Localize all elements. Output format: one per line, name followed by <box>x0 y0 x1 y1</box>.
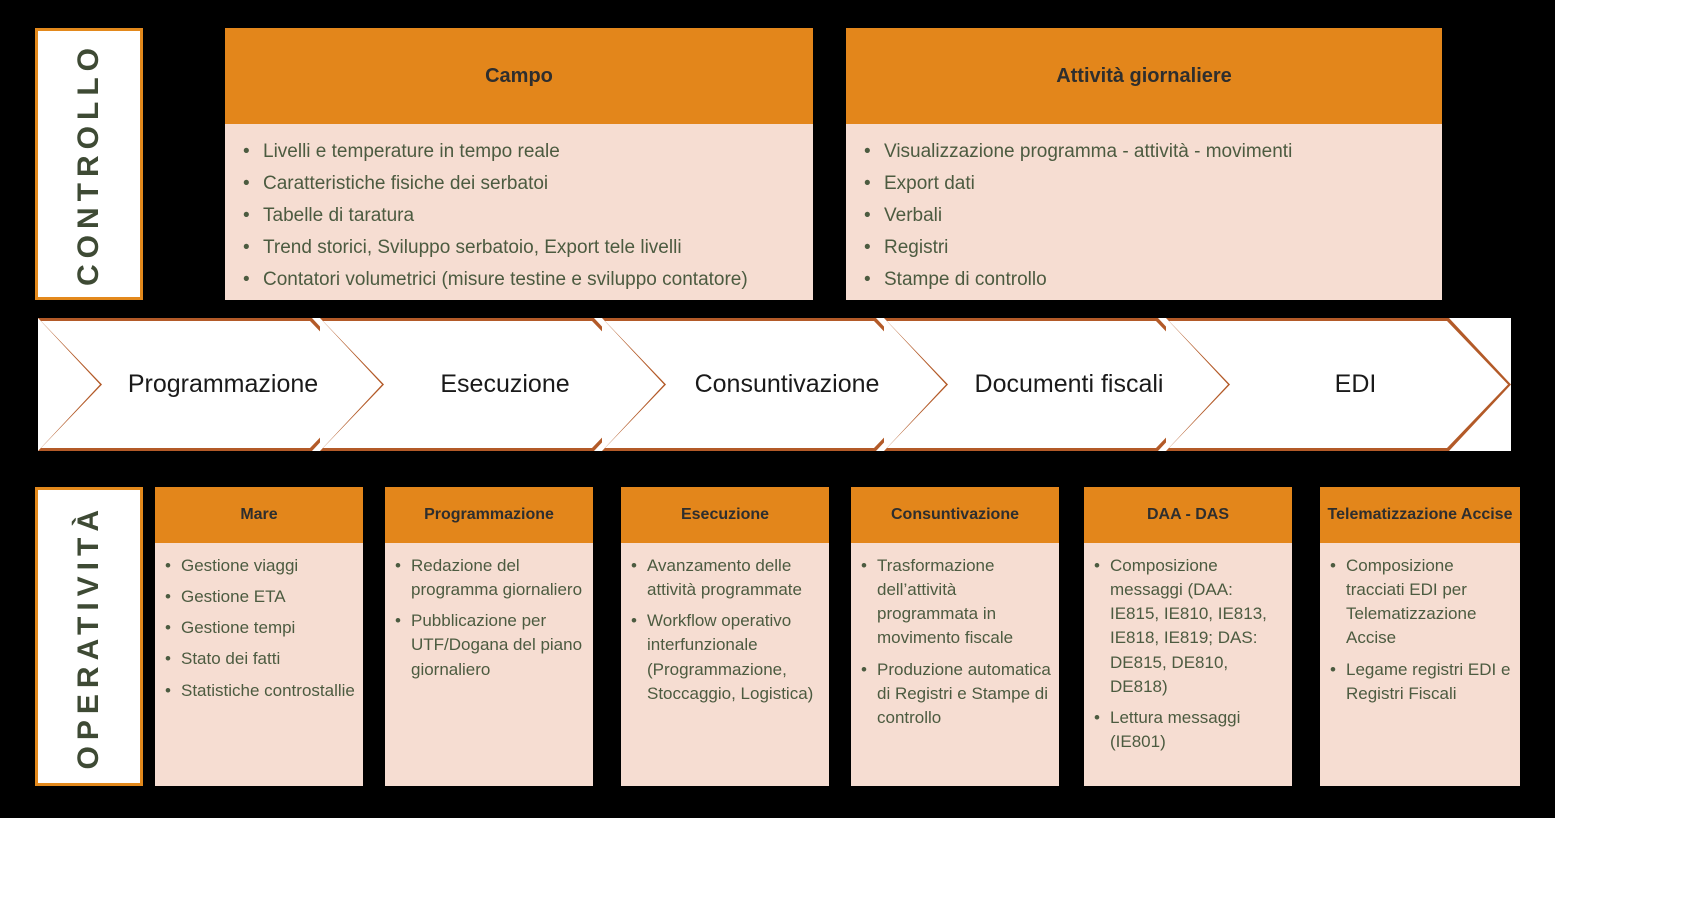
list-item: Stato dei fatti <box>165 647 355 671</box>
card-telematizzazione-accise-body: Composizione tracciati EDI per Telematiz… <box>1320 543 1520 786</box>
list-item: Redazione del programma giornaliero <box>395 554 585 602</box>
process-flow: Programmazione Esecuzione Consuntivazion… <box>0 318 1555 466</box>
process-step-label: Documenti fiscali <box>941 370 1164 399</box>
card-mare-title: Mare <box>155 487 363 543</box>
list-item: Stampe di controllo <box>864 266 1426 295</box>
list-item: Livelli e temperature in tempo reale <box>243 138 797 167</box>
list-item: Composizione messaggi (DAA: IE815, IE810… <box>1094 554 1284 699</box>
card-daa-das-body: Composizione messaggi (DAA: IE815, IE810… <box>1084 543 1292 786</box>
list-item: Tabelle di taratura <box>243 202 797 231</box>
card-mare-body: Gestione viaggi Gestione ETA Gestione te… <box>155 543 363 786</box>
card-programmazione-body: Redazione del programma giornaliero Pubb… <box>385 543 593 786</box>
process-step-label: Esecuzione <box>406 370 569 399</box>
card-esecuzione-body: Avanzamento delle attività programmate W… <box>621 543 829 786</box>
card-campo-list: Livelli e temperature in tempo reale Car… <box>243 138 797 294</box>
card-campo-title: Campo <box>225 28 813 124</box>
list-item: Export dati <box>864 170 1426 199</box>
process-step-edi[interactable]: EDI <box>1166 318 1511 451</box>
list-item: Registri <box>864 234 1426 263</box>
card-campo-body: Livelli e temperature in tempo reale Car… <box>225 124 813 300</box>
card-consuntivazione-title: Consuntivazione <box>851 487 1059 543</box>
list-item: Produzione automatica di Registri e Stam… <box>861 658 1051 730</box>
list-item: Trasformazione dell’attività programmata… <box>861 554 1051 651</box>
list-item: Verbali <box>864 202 1426 231</box>
process-step-label: EDI <box>1301 370 1377 399</box>
card-esecuzione: Esecuzione Avanzamento delle attività pr… <box>621 487 829 786</box>
list-item: Composizione tracciati EDI per Telematiz… <box>1330 554 1512 651</box>
list-item: Gestione ETA <box>165 585 355 609</box>
card-telematizzazione-accise: Telematizzazione Accise Composizione tra… <box>1320 487 1520 786</box>
card-telematizzazione-accise-list: Composizione tracciati EDI per Telematiz… <box>1330 554 1512 706</box>
card-consuntivazione-body: Trasformazione dell’attività programmata… <box>851 543 1059 786</box>
card-mare-list: Gestione viaggi Gestione ETA Gestione te… <box>165 554 355 703</box>
list-item: Caratteristiche fisiche dei serbatoi <box>243 170 797 199</box>
card-attivita-giornaliere: Attività giornaliere Visualizzazione pro… <box>846 28 1442 300</box>
list-item: Contatori volumetrici (misure testine e … <box>243 266 797 295</box>
process-step-label: Consuntivazione <box>661 370 880 399</box>
card-mare: Mare Gestione viaggi Gestione ETA Gestio… <box>155 487 363 786</box>
list-item: Lettura messaggi (IE801) <box>1094 706 1284 754</box>
card-attivita-giornaliere-body: Visualizzazione programma - attività - m… <box>846 124 1442 300</box>
card-telematizzazione-accise-title: Telematizzazione Accise <box>1320 487 1520 543</box>
list-item: Gestione tempi <box>165 616 355 640</box>
list-item: Avanzamento delle attività programmate <box>631 554 821 602</box>
list-item: Statistiche controstallie <box>165 679 355 703</box>
list-item: Pubblicazione per UTF/Dogana del piano g… <box>395 609 585 681</box>
list-item: Gestione viaggi <box>165 554 355 578</box>
card-attivita-giornaliere-list: Visualizzazione programma - attività - m… <box>864 138 1426 294</box>
card-esecuzione-title: Esecuzione <box>621 487 829 543</box>
section-label-operativita: OPERATIVITÀ <box>35 487 143 786</box>
card-daa-das: DAA - DAS Composizione messaggi (DAA: IE… <box>1084 487 1292 786</box>
diagram-canvas: CONTROLLO OPERATIVITÀ Campo Livelli e te… <box>0 0 1555 818</box>
card-consuntivazione-list: Trasformazione dell’attività programmata… <box>861 554 1051 730</box>
process-step-label: Programmazione <box>94 370 318 399</box>
card-daa-das-title: DAA - DAS <box>1084 487 1292 543</box>
list-item: Visualizzazione programma - attività - m… <box>864 138 1426 167</box>
card-campo: Campo Livelli e temperature in tempo rea… <box>225 28 813 300</box>
card-esecuzione-list: Avanzamento delle attività programmate W… <box>631 554 821 706</box>
card-programmazione-list: Redazione del programma giornaliero Pubb… <box>395 554 585 682</box>
card-programmazione-title: Programmazione <box>385 487 593 543</box>
list-item: Workflow operativo interfunzionale (Prog… <box>631 609 821 706</box>
list-item: Legame registri EDI e Registri Fiscali <box>1330 658 1512 706</box>
section-label-controllo-text: CONTROLLO <box>72 42 106 286</box>
card-daa-das-list: Composizione messaggi (DAA: IE815, IE810… <box>1094 554 1284 754</box>
section-label-controllo: CONTROLLO <box>35 28 143 300</box>
card-programmazione: Programmazione Redazione del programma g… <box>385 487 593 786</box>
list-item: Trend storici, Sviluppo serbatoio, Expor… <box>243 234 797 263</box>
card-consuntivazione: Consuntivazione Trasformazione dell’atti… <box>851 487 1059 786</box>
section-label-operativita-text: OPERATIVITÀ <box>72 504 106 769</box>
card-attivita-giornaliere-title: Attività giornaliere <box>846 28 1442 124</box>
